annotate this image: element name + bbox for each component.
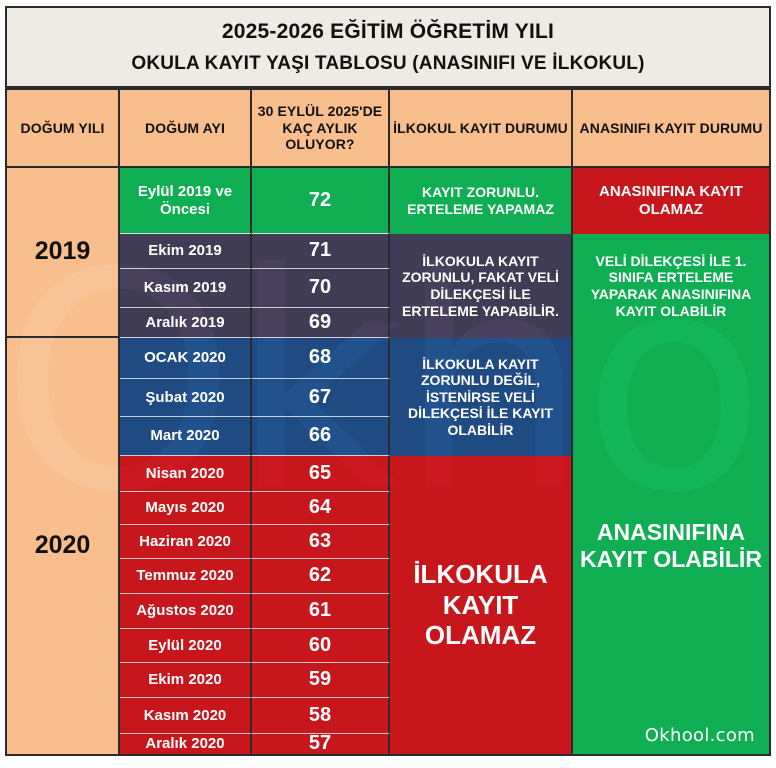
table-row-months-old-14: 58 bbox=[252, 698, 390, 734]
table-row-months-old-7: 65 bbox=[252, 456, 390, 492]
table-row-months-old-3: 69 bbox=[252, 308, 390, 338]
table-row-months-old-9: 63 bbox=[252, 525, 390, 559]
page-title-line2: OKULA KAYIT YAŞI TABLOSU (ANASINIFI VE İ… bbox=[131, 53, 644, 75]
table-row-month-10: Temmuz 2020 bbox=[120, 559, 252, 594]
table-row-months-old-15: 57 bbox=[252, 734, 390, 754]
title-block: 2025-2026 EĞİTİM ÖĞRETİM YILI OKULA KAYI… bbox=[5, 6, 771, 88]
enrollment-table: DOĞUM YILI DOĞUM AYI 30 EYLÜL 2025'DE KA… bbox=[5, 88, 771, 756]
table-row-month-12: Eylül 2020 bbox=[120, 629, 252, 663]
table-row-months-old-11: 61 bbox=[252, 594, 390, 629]
year-group-2020: 2020 bbox=[7, 338, 120, 754]
anasinifi-status-green-1: VELİ DİLEKÇESİ İLE 1. SINIFA ERTELEME YA… bbox=[573, 234, 769, 338]
table-row-month-7: Nisan 2020 bbox=[120, 456, 252, 492]
table-row-month-1: Ekim 2019 bbox=[120, 234, 252, 269]
page-title-line1: 2025-2026 EĞİTİM ÖĞRETİM YILI bbox=[222, 20, 554, 44]
column-header-months-old: 30 EYLÜL 2025'DE KAÇ AYLIK OLUYOR? bbox=[252, 90, 390, 168]
year-group-2019: 2019 bbox=[7, 168, 120, 338]
table-row-month-2: Kasım 2019 bbox=[120, 269, 252, 308]
table-row-months-old-2: 70 bbox=[252, 269, 390, 308]
anasinifi-status-green-2: ANASINIFINA KAYIT OLABİLİR bbox=[573, 338, 769, 754]
school-enrollment-age-table: 2025-2026 EĞİTİM ÖĞRETİM YILI OKULA KAYI… bbox=[0, 0, 776, 768]
table-row-months-old-4: 68 bbox=[252, 338, 390, 379]
table-row-month-15: Aralık 2020 bbox=[120, 734, 252, 754]
table-row-month-13: Ekim 2020 bbox=[120, 663, 252, 698]
table-row-month-3: Aralık 2019 bbox=[120, 308, 252, 338]
site-brand-watermark: Okhool.com bbox=[645, 725, 755, 746]
ilkokul-status-green: KAYIT ZORUNLU. ERTELEME YAPAMAZ bbox=[390, 168, 573, 234]
table-row-months-old-5: 67 bbox=[252, 379, 390, 417]
table-row-months-old-12: 60 bbox=[252, 629, 390, 663]
table-row-months-old-0: 72 bbox=[252, 168, 390, 234]
table-row-months-old-13: 59 bbox=[252, 663, 390, 698]
table-row-month-5: Şubat 2020 bbox=[120, 379, 252, 417]
table-row-months-old-6: 66 bbox=[252, 417, 390, 456]
table-row-month-0: Eylül 2019 ve Öncesi bbox=[120, 168, 252, 234]
anasinifi-status-red: ANASINIFINA KAYIT OLAMAZ bbox=[573, 168, 769, 234]
column-header-birth-month: DOĞUM AYI bbox=[120, 90, 252, 168]
table-row-month-9: Haziran 2020 bbox=[120, 525, 252, 559]
table-row-months-old-10: 62 bbox=[252, 559, 390, 594]
table-row-month-11: Ağustos 2020 bbox=[120, 594, 252, 629]
table-row-months-old-8: 64 bbox=[252, 492, 390, 525]
ilkokul-status-purple: İLKOKULA KAYIT ZORUNLU, FAKAT VELİ DİLEK… bbox=[390, 234, 573, 338]
table-row-month-4: OCAK 2020 bbox=[120, 338, 252, 379]
table-row-months-old-1: 71 bbox=[252, 234, 390, 269]
column-header-anasinifi: ANASINIFI KAYIT DURUMU bbox=[573, 90, 769, 168]
table-row-month-14: Kasım 2020 bbox=[120, 698, 252, 734]
table-row-month-8: Mayıs 2020 bbox=[120, 492, 252, 525]
column-header-ilkokul: İLKOKUL KAYIT DURUMU bbox=[390, 90, 573, 168]
ilkokul-status-red: İLKOKULA KAYIT OLAMAZ bbox=[390, 456, 573, 754]
ilkokul-status-blue: İLKOKULA KAYIT ZORUNLU DEĞİL, İSTENİRSE … bbox=[390, 338, 573, 456]
table-row-month-6: Mart 2020 bbox=[120, 417, 252, 456]
column-header-birth-year: DOĞUM YILI bbox=[7, 90, 120, 168]
